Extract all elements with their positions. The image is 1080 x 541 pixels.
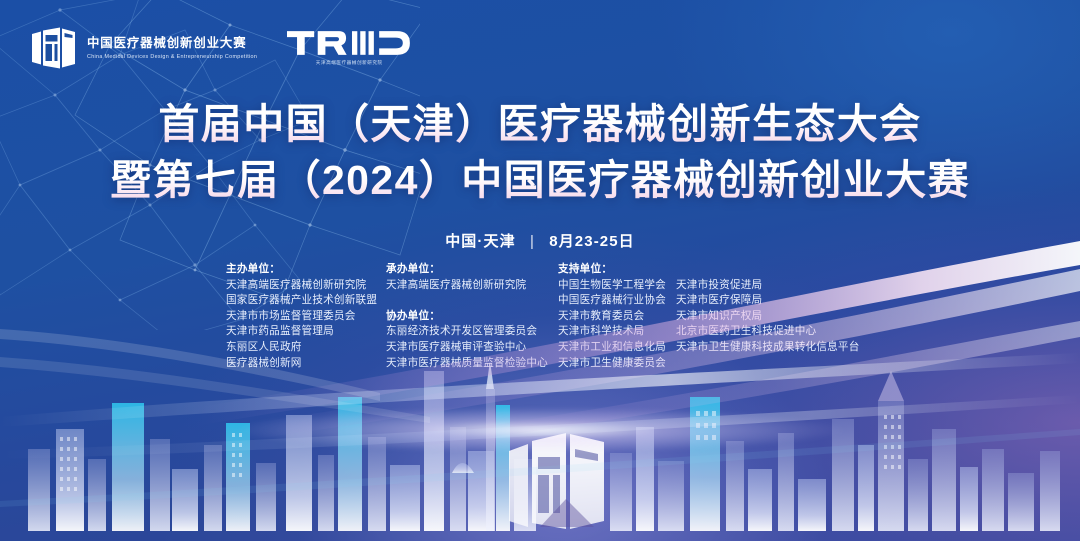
- org-item: 北京市医药卫生科技促进中心: [676, 324, 886, 340]
- event-location: 中国·天津: [445, 233, 516, 250]
- org-item: 中国医疗器械行业协会: [558, 293, 676, 309]
- org-group-header: 支持单位：: [558, 262, 676, 278]
- org-spacer: [386, 293, 558, 309]
- org-item: 国家医疗器械产业技术创新联盟: [226, 293, 386, 309]
- event-separator: |: [530, 233, 535, 250]
- org-item: 天津市医疗保障局: [676, 293, 886, 309]
- institute-logo: 天津高端医疗器械创新研究院: [287, 30, 411, 66]
- org-group-header: 协办单位：: [386, 309, 558, 325]
- org-column-supporters-b: 天津市投资促进局 天津市医疗保障局 天津市知识产权局 北京市医药卫生科技促进中心…: [676, 262, 886, 356]
- org-item: 天津市教育委员会: [558, 309, 676, 325]
- org-item: 中国生物医学工程学会: [558, 278, 676, 294]
- org-item: 天津市科学技术局: [558, 324, 676, 340]
- event-date: 8月23-25日: [549, 233, 635, 250]
- org-item: 医疗器械创新网: [226, 356, 386, 372]
- org-item: 天津高端医疗器械创新研究院: [386, 278, 558, 294]
- org-item: 天津市市场监督管理委员会: [226, 309, 386, 325]
- org-item: 天津市工业和信息化局: [558, 340, 676, 356]
- title-line-2: 暨第七届（2024）中国医疗器械创新创业大赛: [0, 152, 1080, 208]
- org-item: 天津高端医疗器械创新研究院: [226, 278, 386, 294]
- org-item: 东丽区人民政府: [226, 340, 386, 356]
- org-column-undertaker: 承办单位： 天津高端医疗器械创新研究院 协办单位： 东丽经济技术开发区管理委员会…: [386, 262, 558, 371]
- org-item: 天津市药品监督管理局: [226, 324, 386, 340]
- triid-wordmark-icon: [287, 30, 411, 56]
- main-titles: 首届中国（天津）医疗器械创新生态大会 暨第七届（2024）中国医疗器械创新创业大…: [0, 96, 1080, 208]
- organizers: 主办单位： 天津高端医疗器械创新研究院 国家医疗器械产业技术创新联盟 天津市市场…: [226, 262, 886, 371]
- org-item: 天津市医疗器械审评查验中心: [386, 340, 558, 356]
- title-line-1: 首届中国（天津）医疗器械创新生态大会: [0, 96, 1080, 152]
- org-column-supporters-a: 支持单位： 中国生物医学工程学会 中国医疗器械行业协会 天津市教育委员会 天津市…: [558, 262, 676, 371]
- org-group-header: 承办单位：: [386, 262, 558, 278]
- competition-name-cn: 中国医疗器械创新创业大赛: [87, 36, 257, 52]
- institute-name-cn: 天津高端医疗器械创新研究院: [287, 60, 411, 66]
- open-door-book-mark-icon: [30, 27, 77, 69]
- event-info: 中国·天津 | 8月23-25日: [0, 230, 1080, 251]
- org-group-header: 主办单位：: [226, 262, 386, 278]
- org-item: 天津市投资促进局: [676, 278, 886, 294]
- org-item: 天津市卫生健康科技成果转化信息平台: [676, 340, 886, 356]
- org-item: 天津市医疗器械质量监督检验中心: [386, 356, 558, 372]
- competition-name-en: China Medical Devices Design & Entrepren…: [87, 54, 257, 60]
- org-column-host: 主办单位： 天津高端医疗器械创新研究院 国家医疗器械产业技术创新联盟 天津市市场…: [226, 262, 386, 371]
- center-glow: [230, 407, 850, 453]
- org-item: 东丽经济技术开发区管理委员会: [386, 324, 558, 340]
- header-logos: 中国医疗器械创新创业大赛 China Medical Devices Desig…: [30, 27, 411, 69]
- light-streaks-icon: [0, 211, 1080, 541]
- poster-banner: 中国医疗器械创新创业大赛 China Medical Devices Desig…: [0, 0, 1080, 541]
- org-item: 天津市卫生健康委员会: [558, 356, 676, 372]
- competition-logo: 中国医疗器械创新创业大赛 China Medical Devices Desig…: [30, 27, 257, 69]
- org-item: 天津市知识产权局: [676, 309, 886, 325]
